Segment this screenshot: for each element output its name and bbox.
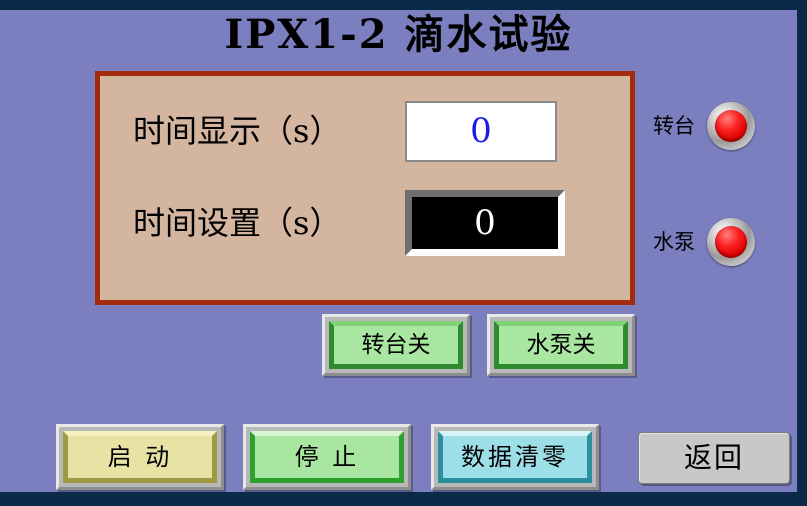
turntable-off-button-label: 转台关 (329, 321, 463, 369)
time-display-value: 0 (405, 101, 557, 162)
indicator-pump-label: 水泵 (653, 230, 695, 254)
indicator-turntable-label: 转台 (653, 114, 695, 138)
page-title: IPX1-2 滴水试验 (0, 12, 797, 58)
right-chrome-bar (797, 0, 807, 506)
time-setting-label: 时间设置（s） (100, 204, 405, 242)
pump-off-button-label: 水泵关 (494, 321, 628, 369)
lamp-inner-pump (715, 226, 747, 258)
start-button-label: 启 动 (63, 431, 217, 483)
stop-button-label: 停 止 (250, 431, 404, 483)
indicator-turntable: 转台 (653, 102, 755, 150)
lamp-icon (707, 218, 755, 266)
time-setting-input[interactable]: 0 (405, 190, 565, 256)
time-setting-row: 时间设置（s） 0 (100, 187, 630, 259)
stop-button[interactable]: 停 止 (243, 424, 411, 490)
hmi-screen: IPX1-2 滴水试验 时间显示（s） 0 时间设置（s） 0 转台 水泵 转台… (0, 0, 807, 506)
top-chrome-bar (0, 0, 807, 10)
indicator-pump: 水泵 (653, 218, 755, 266)
time-display-label: 时间显示（s） (100, 112, 405, 150)
back-button[interactable]: 返回 (638, 432, 790, 484)
clear-data-button-label: 数据清零 (438, 431, 592, 483)
bottom-chrome-bar (0, 492, 807, 506)
time-display-row: 时间显示（s） 0 (100, 95, 630, 167)
parameter-panel: 时间显示（s） 0 时间设置（s） 0 (95, 71, 635, 305)
turntable-off-button[interactable]: 转台关 (322, 314, 470, 376)
clear-data-button[interactable]: 数据清零 (431, 424, 599, 490)
pump-off-button[interactable]: 水泵关 (487, 314, 635, 376)
lamp-icon (707, 102, 755, 150)
lamp-inner-turntable (715, 110, 747, 142)
start-button[interactable]: 启 动 (56, 424, 224, 490)
